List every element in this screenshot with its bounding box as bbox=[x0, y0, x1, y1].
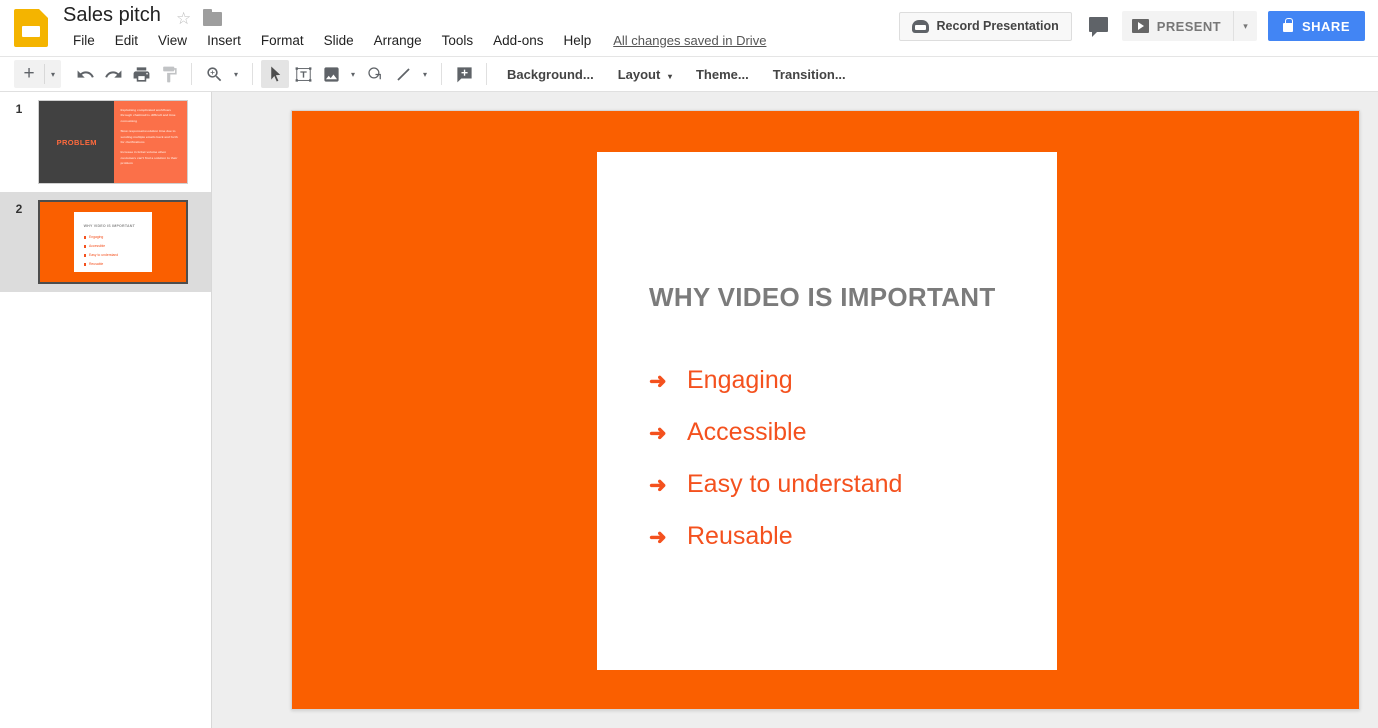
line-caret-icon[interactable]: ▾ bbox=[417, 60, 433, 88]
menu-item-tools[interactable]: Tools bbox=[432, 31, 484, 50]
thumbnail-card: WHY VIDEO IS IMPORTANT Engaging Accessib… bbox=[74, 212, 153, 271]
thumbnail-bullet-label: Engaging bbox=[89, 235, 103, 239]
theme-button[interactable]: Theme... bbox=[684, 62, 761, 87]
slide-number: 2 bbox=[0, 200, 38, 216]
thumbnail-left-panel: PROBLEM bbox=[39, 101, 114, 183]
layout-label: Layout bbox=[618, 67, 661, 82]
menu-item-slide[interactable]: Slide bbox=[314, 31, 364, 50]
new-slide-button[interactable]: + bbox=[14, 60, 44, 88]
undo-button[interactable] bbox=[71, 60, 99, 88]
arrow-bullet-icon: ➜ bbox=[649, 423, 687, 444]
thumbnail-title: WHY VIDEO IS IMPORTANT bbox=[84, 224, 145, 228]
thumbnail-paragraph: Slow response/resolution time due to sen… bbox=[120, 129, 181, 145]
thumbnail-bullet-label: Easy to understand bbox=[89, 253, 118, 257]
menu-item-view[interactable]: View bbox=[148, 31, 197, 50]
canvas-area[interactable]: WHY VIDEO IS IMPORTANT ➜ Engaging ➜ Acce… bbox=[212, 92, 1378, 728]
menu-item-file[interactable]: File bbox=[63, 31, 105, 50]
menu-item-help[interactable]: Help bbox=[553, 31, 601, 50]
new-slide-caret-icon[interactable]: ▾ bbox=[45, 60, 61, 88]
slide-number: 1 bbox=[0, 100, 38, 116]
paint-format-button[interactable] bbox=[155, 60, 183, 88]
menu-item-format[interactable]: Format bbox=[251, 31, 314, 50]
redo-button[interactable] bbox=[99, 60, 127, 88]
slide-bullet-item[interactable]: ➜ Easy to understand bbox=[649, 472, 1057, 497]
thumbnail-paragraph: Explaining complicated workflows through… bbox=[120, 108, 181, 124]
webcam-icon bbox=[912, 20, 929, 33]
zoom-caret-icon[interactable]: ▾ bbox=[228, 60, 244, 88]
arrow-bullet-icon: ➜ bbox=[649, 371, 687, 392]
bullet-dot-icon bbox=[84, 236, 86, 238]
arrow-bullet-icon: ➜ bbox=[649, 527, 687, 548]
folder-icon[interactable] bbox=[203, 12, 222, 26]
slide-canvas[interactable]: WHY VIDEO IS IMPORTANT ➜ Engaging ➜ Acce… bbox=[291, 110, 1360, 710]
menu-bar: File Edit View Insert Format Slide Arran… bbox=[63, 31, 766, 50]
top-bar: Sales pitch ☆ File Edit View Insert Form… bbox=[0, 0, 1378, 56]
share-button[interactable]: SHARE bbox=[1268, 11, 1365, 41]
background-button[interactable]: Background... bbox=[495, 62, 606, 87]
slide-thumbnail[interactable]: WHY VIDEO IS IMPORTANT Engaging Accessib… bbox=[38, 200, 188, 284]
thumbnail-bullet: Accessible bbox=[84, 244, 145, 248]
record-presentation-label: Record Presentation bbox=[937, 19, 1059, 33]
bullet-dot-icon bbox=[84, 263, 86, 265]
text-box-tool-button[interactable] bbox=[289, 60, 317, 88]
bullet-dot-icon bbox=[84, 254, 86, 256]
toolbar: + ▾ ▾ ▾ bbox=[0, 56, 1378, 92]
workspace: 1 PROBLEM Explaining complicated workflo… bbox=[0, 92, 1378, 728]
slide-bullet-label: Reusable bbox=[687, 524, 793, 549]
thumbnail-background: WHY VIDEO IS IMPORTANT Engaging Accessib… bbox=[40, 202, 186, 282]
present-label: PRESENT bbox=[1157, 19, 1221, 34]
transition-button[interactable]: Transition... bbox=[761, 62, 858, 87]
shape-tool-button[interactable] bbox=[361, 60, 389, 88]
slide-content-card[interactable]: WHY VIDEO IS IMPORTANT ➜ Engaging ➜ Acce… bbox=[597, 152, 1057, 670]
present-button-group: PRESENT ▾ bbox=[1122, 11, 1257, 41]
menu-item-arrange[interactable]: Arrange bbox=[364, 31, 432, 50]
thumbnail-bullet-label: Reusable bbox=[89, 262, 103, 266]
add-comment-button[interactable] bbox=[450, 60, 478, 88]
new-slide-group: + ▾ bbox=[14, 60, 61, 88]
slide-bullet-item[interactable]: ➜ Reusable bbox=[649, 524, 1057, 549]
document-title[interactable]: Sales pitch bbox=[63, 4, 161, 27]
play-icon bbox=[1132, 19, 1149, 33]
share-label: SHARE bbox=[1302, 19, 1350, 34]
menu-item-insert[interactable]: Insert bbox=[197, 31, 251, 50]
comment-icon[interactable] bbox=[1088, 15, 1110, 37]
menu-item-edit[interactable]: Edit bbox=[105, 31, 148, 50]
google-slides-logo-icon bbox=[14, 9, 48, 47]
filmstrip-slide-1[interactable]: 1 PROBLEM Explaining complicated workflo… bbox=[0, 92, 211, 192]
thumbnail-bullet: Engaging bbox=[84, 235, 145, 239]
top-right-actions: Record Presentation PRESENT ▾ SHARE bbox=[899, 11, 1365, 41]
present-button[interactable]: PRESENT bbox=[1122, 11, 1233, 41]
slide-bullet-label: Engaging bbox=[687, 368, 793, 393]
slide-bullet-item[interactable]: ➜ Engaging bbox=[649, 368, 1057, 393]
select-tool-button[interactable] bbox=[261, 60, 289, 88]
thumbnail-heading: PROBLEM bbox=[57, 138, 97, 147]
layout-caret-icon: ▾ bbox=[668, 72, 672, 81]
slide-filmstrip-panel[interactable]: 1 PROBLEM Explaining complicated workflo… bbox=[0, 92, 212, 728]
layout-button[interactable]: Layout ▾ bbox=[606, 62, 684, 87]
record-presentation-button[interactable]: Record Presentation bbox=[899, 12, 1072, 41]
thumbnail-paragraph: Increase in ticket volume when customers… bbox=[120, 150, 181, 166]
thumbnail-right-panel: Explaining complicated workflows through… bbox=[114, 101, 187, 183]
thumbnail-bullet: Reusable bbox=[84, 262, 145, 266]
insert-image-button[interactable] bbox=[317, 60, 345, 88]
slide-bullet-item[interactable]: ➜ Accessible bbox=[649, 420, 1057, 445]
thumbnail-bullet: Easy to understand bbox=[84, 253, 145, 257]
arrow-bullet-icon: ➜ bbox=[649, 475, 687, 496]
print-button[interactable] bbox=[127, 60, 155, 88]
line-tool-button[interactable] bbox=[389, 60, 417, 88]
save-status-link[interactable]: All changes saved in Drive bbox=[613, 33, 766, 48]
thumbnail-bullet-label: Accessible bbox=[89, 244, 105, 248]
slide-bullet-label: Accessible bbox=[687, 420, 807, 445]
present-dropdown-caret-icon[interactable]: ▾ bbox=[1233, 11, 1257, 41]
star-icon[interactable]: ☆ bbox=[176, 10, 191, 27]
slide-thumbnail[interactable]: PROBLEM Explaining complicated workflows… bbox=[38, 100, 188, 184]
slide-bullet-label: Easy to understand bbox=[687, 472, 902, 497]
slide-title[interactable]: WHY VIDEO IS IMPORTANT bbox=[649, 282, 1057, 313]
zoom-button[interactable] bbox=[200, 60, 228, 88]
lock-icon bbox=[1283, 23, 1293, 32]
bullet-dot-icon bbox=[84, 245, 86, 247]
image-caret-icon[interactable]: ▾ bbox=[345, 60, 361, 88]
filmstrip-slide-2[interactable]: 2 WHY VIDEO IS IMPORTANT Engaging Access… bbox=[0, 192, 211, 292]
menu-item-addons[interactable]: Add-ons bbox=[483, 31, 553, 50]
